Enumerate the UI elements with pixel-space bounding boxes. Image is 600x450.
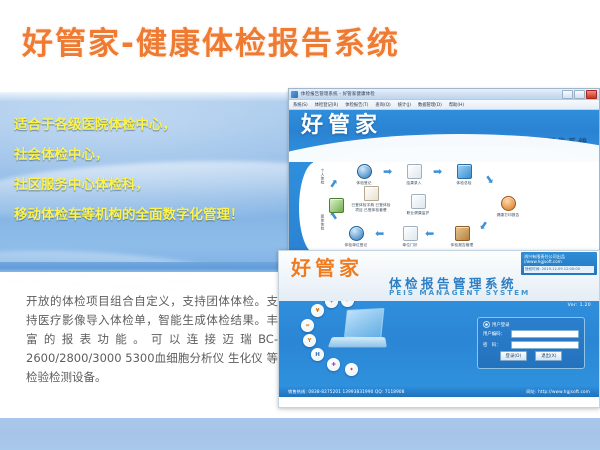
book-icon xyxy=(364,186,379,201)
exit-button[interactable]: 退出(X) xyxy=(535,351,562,361)
watermark-url: //www.hgjsoft.com xyxy=(524,259,594,264)
flow-node-report-management[interactable]: 体检报告管理 xyxy=(445,226,479,248)
username-input[interactable] xyxy=(511,330,579,338)
badge-h-icon: H xyxy=(311,348,324,361)
radio-user-login[interactable] xyxy=(483,321,490,328)
badge-cross-icon: ✚ xyxy=(327,358,340,371)
globe-icon xyxy=(349,226,364,241)
flow-node-label: 体检报告管理 xyxy=(445,243,479,248)
badge-currency-icon: ¥ xyxy=(311,304,324,317)
side-label-group: 团体体检 xyxy=(321,214,326,230)
clipboard-icon xyxy=(411,194,426,209)
menu-item-registration[interactable]: 体检登记(R) xyxy=(315,102,339,108)
company-watermark: 鸿兴有限责任公司出品 //www.hgjsoft.com 授权时间: 2019-… xyxy=(521,252,597,275)
feature-line-1: 适合于各级医院体检中心， xyxy=(14,110,314,140)
password-row: 密 码： xyxy=(483,341,579,349)
hero-side-cap xyxy=(289,162,313,253)
flow-node-label: 单位门诊 xyxy=(393,243,427,248)
flow-node-label: 已登体检字典 已登体检项目 已登体检套餐 xyxy=(351,203,391,213)
close-button-icon[interactable] xyxy=(586,90,597,99)
menu-item-system[interactable]: 系统(S) xyxy=(293,102,308,108)
flow-node-dictionaries[interactable]: 已登体检字典 已登体检项目 已登体检套餐 xyxy=(351,186,391,213)
laptop-illustration xyxy=(329,309,392,355)
login-form: 用户登录 用户编码： 密 码： 登录(O) 退出(X) xyxy=(477,317,585,369)
flow-node-final-check[interactable]: 体检总检 xyxy=(447,164,481,186)
menu-bar: 系统(S) 体检登记(R) 体检报告(T) 查询(Q) 统计(J) 数据管理(D… xyxy=(289,100,599,110)
login-brand-name: 好管家 xyxy=(291,256,363,280)
flow-node-unit-registration[interactable]: 体检单位登记 xyxy=(339,226,373,248)
archive-box-icon xyxy=(455,226,470,241)
flow-node-label: 体检登记 xyxy=(347,181,381,186)
login-header: 好管家 体检报告管理系统 PEIS MANAGENT SYSTEM 鸿兴有限责任… xyxy=(279,251,599,301)
page-footer-band xyxy=(0,418,600,450)
badge-equals-icon: = xyxy=(301,319,314,332)
laptop-screen xyxy=(344,308,384,339)
badge-yen-icon: Y xyxy=(303,334,316,347)
login-title-en: PEIS MANAGENT SYSTEM xyxy=(389,288,530,297)
app-brand-name: 好管家 xyxy=(301,113,382,139)
flow-node-label: 职业健康监护 xyxy=(401,211,435,216)
login-window-screenshot: 好管家 体检报告管理系统 PEIS MANAGENT SYSTEM 鸿兴有限责任… xyxy=(278,250,600,408)
badge-star-icon: ✦ xyxy=(345,363,358,376)
flow-node-occupational-health[interactable]: 职业健康监护 xyxy=(401,194,435,216)
flow-node-statistics[interactable] xyxy=(319,198,353,213)
window-titlebar: 体检报告管理系统 - 好管家健康体检 xyxy=(289,89,599,100)
arrow-down-right-icon: ➡ xyxy=(482,173,496,187)
diamond-icon xyxy=(457,164,472,179)
flow-node-print-report[interactable]: 健康打印报告 xyxy=(491,196,525,218)
feature-line-3: 社区服务中心体检科， xyxy=(14,170,314,200)
feature-list: 适合于各级医院体检中心， 社会体检中心， 社区服务中心体检科， 移动体检车等机构… xyxy=(14,110,314,230)
folder-icon xyxy=(403,226,418,241)
bar-chart-icon xyxy=(329,198,344,213)
description-paragraph: 开放的体检项目组合自定义，支持团体体检。支持医疗影像导入体检单，智能生成体检结果… xyxy=(26,292,278,387)
arrow-up-right-icon: ➡ xyxy=(326,177,340,191)
window-controls xyxy=(562,90,597,99)
arrow-right-icon: ➡ xyxy=(433,166,442,177)
globe-icon xyxy=(357,164,372,179)
flow-node-clinic[interactable]: 单位门诊 xyxy=(393,226,427,248)
arrow-right-icon: ➡ xyxy=(383,166,392,177)
password-label: 密 码： xyxy=(483,342,509,348)
menu-item-report[interactable]: 体检报告(T) xyxy=(345,102,368,108)
window-title: 体检报告管理系统 - 好管家健康体检 xyxy=(301,91,559,97)
feature-line-4: 移动体检车等机构的全面数字化管理！ xyxy=(14,200,314,230)
maximize-button-icon[interactable] xyxy=(574,90,585,99)
workflow-diagram: 个人体检 团体体检 体检登记 ➡ 结果录入 ➡ 体检总检 ➡ 健康打印报告 xyxy=(289,162,599,253)
printer-icon xyxy=(501,196,516,211)
flow-node-label: 健康打印报告 xyxy=(491,213,525,218)
arrow-left-icon: ➡ xyxy=(375,228,384,239)
flow-node-label: 体检单位登记 xyxy=(339,243,373,248)
flow-node-label: 体检总检 xyxy=(447,181,481,186)
badge-check-icon: ✔ xyxy=(341,301,354,307)
menu-item-data[interactable]: 数据管理(D) xyxy=(418,102,442,108)
app-window-screenshot: 体检报告管理系统 - 好管家健康体检 系统(S) 体检登记(R) 体检报告(T)… xyxy=(288,88,600,253)
app-hero-banner: 好管家 健康体检报告系统 xyxy=(289,110,599,162)
feature-line-2: 社会体检中心， xyxy=(14,140,314,170)
menu-item-statistics[interactable]: 统计(J) xyxy=(398,102,411,108)
flow-node-label: 结果录入 xyxy=(397,181,431,186)
watermark-stamp: 授权时间: 2019-12-09 12:00:00 xyxy=(524,266,594,272)
page-title: 好管家-健康体检报告系统 xyxy=(22,24,400,64)
username-label: 用户编码： xyxy=(483,331,509,337)
login-body: Ver: 1.20 ✈ ✔ ¥ = Y H ✚ ✦ 用户登录 用户编码： xyxy=(279,301,599,389)
minimize-button-icon[interactable] xyxy=(562,90,573,99)
app-icon xyxy=(291,91,298,98)
login-button[interactable]: 登录(O) xyxy=(500,351,528,361)
login-legend-label: 用户登录 xyxy=(492,322,510,328)
username-row: 用户编码： xyxy=(483,330,579,338)
login-footer-strip xyxy=(279,397,599,407)
status-website: 网址: http://www.hgjsoft.com xyxy=(526,389,590,395)
laptop-base xyxy=(328,337,387,347)
login-actions: 登录(O) 退出(X) xyxy=(483,351,579,361)
menu-item-help[interactable]: 帮助(H) xyxy=(449,102,464,108)
login-form-legend: 用户登录 xyxy=(483,321,579,328)
flow-node-result-entry[interactable]: 结果录入 xyxy=(397,164,431,186)
badge-plane-icon: ✈ xyxy=(325,301,338,308)
login-status-bar: 销售热线: 0838-8275201 13993831990 QQ: 71189… xyxy=(279,386,599,397)
menu-item-query[interactable]: 查询(Q) xyxy=(375,102,390,108)
password-input[interactable] xyxy=(511,341,579,349)
status-sales-hotline: 销售热线: 0838-8275201 13993831990 QQ: 71189… xyxy=(288,389,405,395)
document-edit-icon xyxy=(407,164,422,179)
flow-node-registration[interactable]: 体检登记 xyxy=(347,164,381,186)
version-label: Ver: 1.20 xyxy=(568,303,591,308)
promo-page: 好管家-健康体检报告系统 适合于各级医院体检中心， 社会体检中心， 社区服务中心… xyxy=(0,0,600,450)
